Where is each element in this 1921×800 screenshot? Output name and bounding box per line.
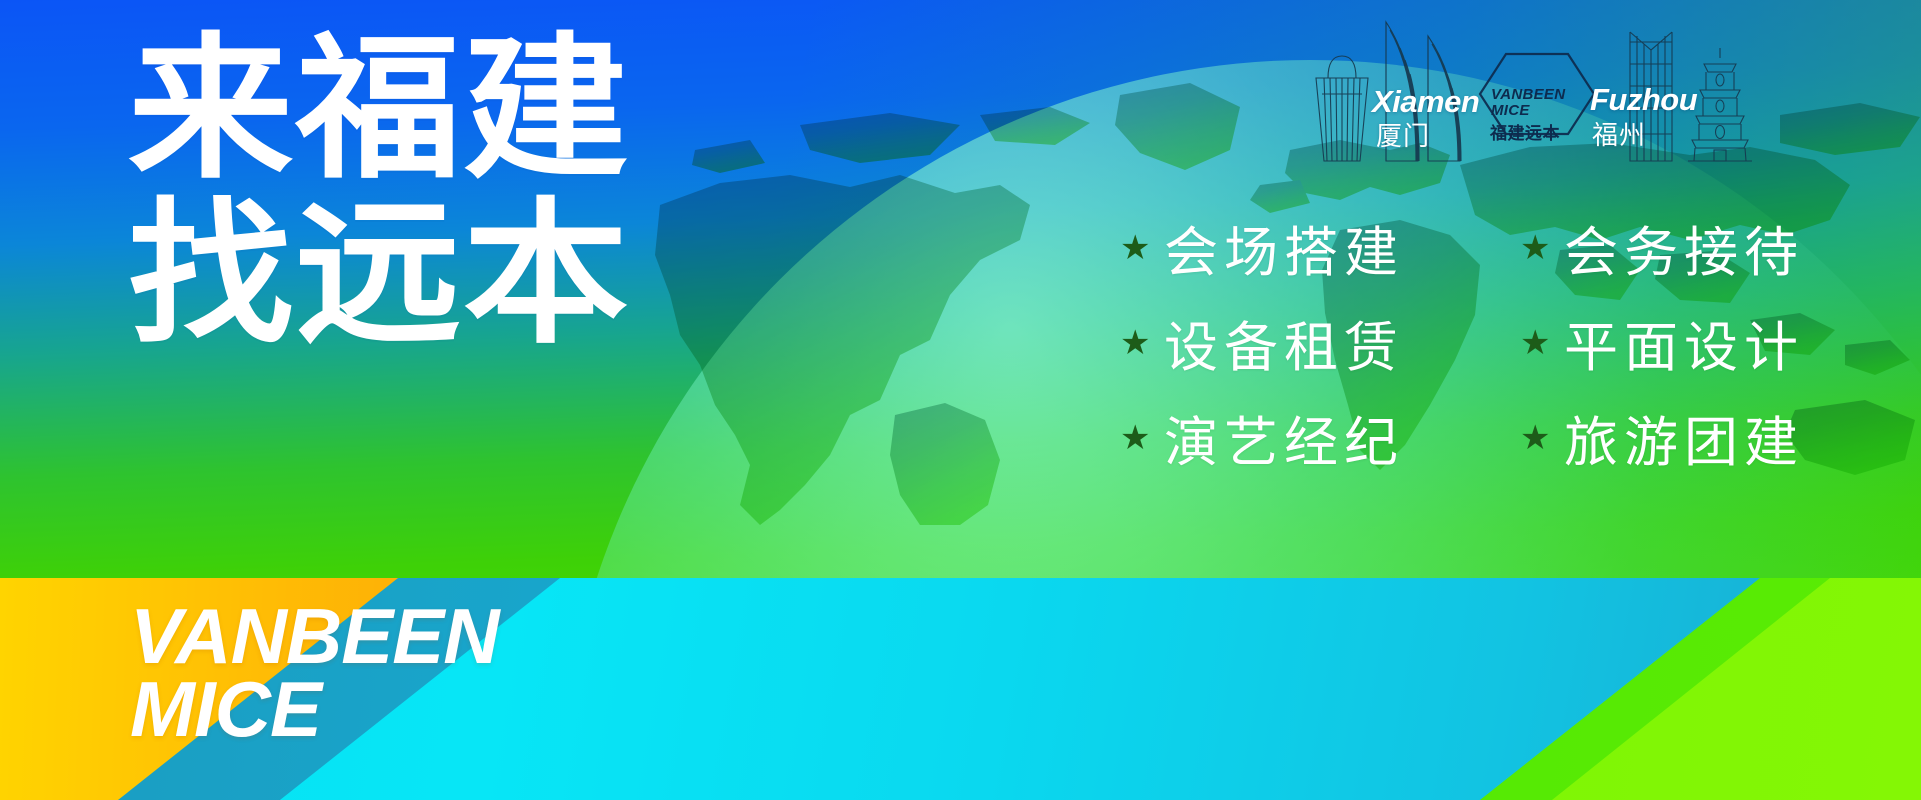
service-label: 设备租赁 — [1164, 303, 1404, 382]
city-name-fuzhou-en: Fuzhou — [1590, 82, 1697, 118]
brand-wordmark: VANBEEN MICE — [130, 600, 499, 745]
headline: 来福建 找远本 — [128, 34, 728, 351]
service-item: ★ 平面设计 — [1520, 303, 1910, 382]
city-name-fuzhou-cn: 福州 — [1592, 115, 1646, 152]
badge-brand-cn: 福建远本 — [1490, 119, 1560, 144]
top-panel: 来福建 找远本 ★ 会场搭建 ★ 会务接待 ★ 设备租赁 ★ 平面设计 ★ — [0, 0, 1921, 578]
star-icon: ★ — [1120, 328, 1150, 358]
city-name-xiamen-en: Xiamen — [1372, 84, 1479, 120]
wordmark-line-1: VANBEEN — [130, 600, 499, 673]
badge-brand-line-1: VANBEEN — [1491, 86, 1565, 103]
service-label: 平面设计 — [1564, 303, 1804, 382]
city-name-xiamen-cn: 厦门 — [1376, 116, 1430, 153]
service-item: ★ 设备租赁 — [1120, 303, 1510, 382]
service-label: 会场搭建 — [1164, 208, 1404, 287]
service-label: 会务接待 — [1564, 208, 1804, 287]
service-item: ★ 演艺经纪 — [1120, 398, 1510, 477]
service-item: ★ 会场搭建 — [1120, 208, 1510, 287]
wordmark-line-2: MICE — [130, 673, 499, 746]
badge-brand-line-2: MICE — [1491, 102, 1530, 119]
city-lockup: Xiamen 厦门 Fuzhou 福州 VANBEEN MICE 福建远本 — [1300, 6, 1800, 171]
service-item: ★ 会务接待 — [1520, 208, 1910, 287]
star-icon: ★ — [1520, 328, 1550, 358]
service-label: 旅游团建 — [1564, 398, 1804, 477]
headline-line-1: 来福建 — [128, 34, 764, 185]
banner-stage: 来福建 找远本 ★ 会场搭建 ★ 会务接待 ★ 设备租赁 ★ 平面设计 ★ — [0, 0, 1921, 800]
service-label: 演艺经纪 — [1164, 398, 1404, 477]
headline-line-2: 找远本 — [128, 199, 764, 350]
star-icon: ★ — [1520, 233, 1550, 263]
star-icon: ★ — [1120, 233, 1150, 263]
service-list: ★ 会场搭建 ★ 会务接待 ★ 设备租赁 ★ 平面设计 ★ 演艺经纪 ★ 旅游团… — [1120, 208, 1910, 477]
star-icon: ★ — [1520, 423, 1550, 453]
star-icon: ★ — [1120, 423, 1150, 453]
service-item: ★ 旅游团建 — [1520, 398, 1910, 477]
bottom-bar: VANBEEN MICE — [0, 578, 1921, 800]
